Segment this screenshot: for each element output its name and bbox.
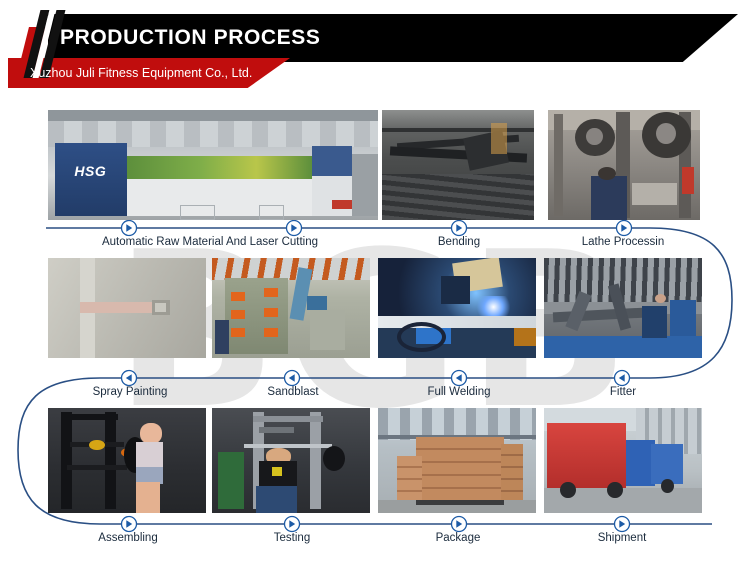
process-label-automatic-raw-material-and-laser-cutting: Automatic Raw Material And Laser Cutting [102,234,318,250]
process-label-full-welding: Full Welding [427,384,490,400]
process-labels-row-1: Automatic Raw Material And Laser Cutting… [0,234,750,254]
process-labels-row-2: Spray Painting Sandblast Full Welding Fi… [0,384,750,404]
process-labels-row-3: Assembling Testing Package Shipment [0,530,750,550]
process-image-laser-cutting: HSG [48,110,378,220]
production-process-page: BGB PRODUCTION PROCESS Xuzhou Juli Fitne… [0,0,750,575]
process-label-lathe-processin: Lathe Processin [582,234,664,250]
process-label-bending: Bending [438,234,480,250]
process-image-fitter [544,258,702,358]
process-image-spray-painting [48,258,206,358]
page-header: PRODUCTION PROCESS Xuzhou Juli Fitness E… [0,0,750,100]
process-image-sandblast [212,258,370,358]
page-title: PRODUCTION PROCESS [60,24,321,52]
process-row-2 [0,258,750,358]
process-image-package [378,408,536,513]
process-image-full-welding [378,258,536,358]
process-label-fitter: Fitter [610,384,636,400]
process-row-3 [0,408,750,513]
process-label-spray-painting: Spray Painting [93,384,168,400]
process-image-lathe [548,110,700,220]
process-label-assembling: Assembling [98,530,157,546]
process-label-package: Package [436,530,481,546]
process-image-bending [382,110,534,220]
process-label-shipment: Shipment [598,530,647,546]
process-label-testing: Testing [274,530,310,546]
process-image-testing [212,408,370,513]
process-image-assembling [48,408,206,513]
process-image-shipment [544,408,702,513]
process-row-1: HSG [0,110,750,220]
process-label-sandblast: Sandblast [267,384,318,400]
company-name: Xuzhou Juli Fitness Equipment Co., Ltd. [30,63,252,83]
